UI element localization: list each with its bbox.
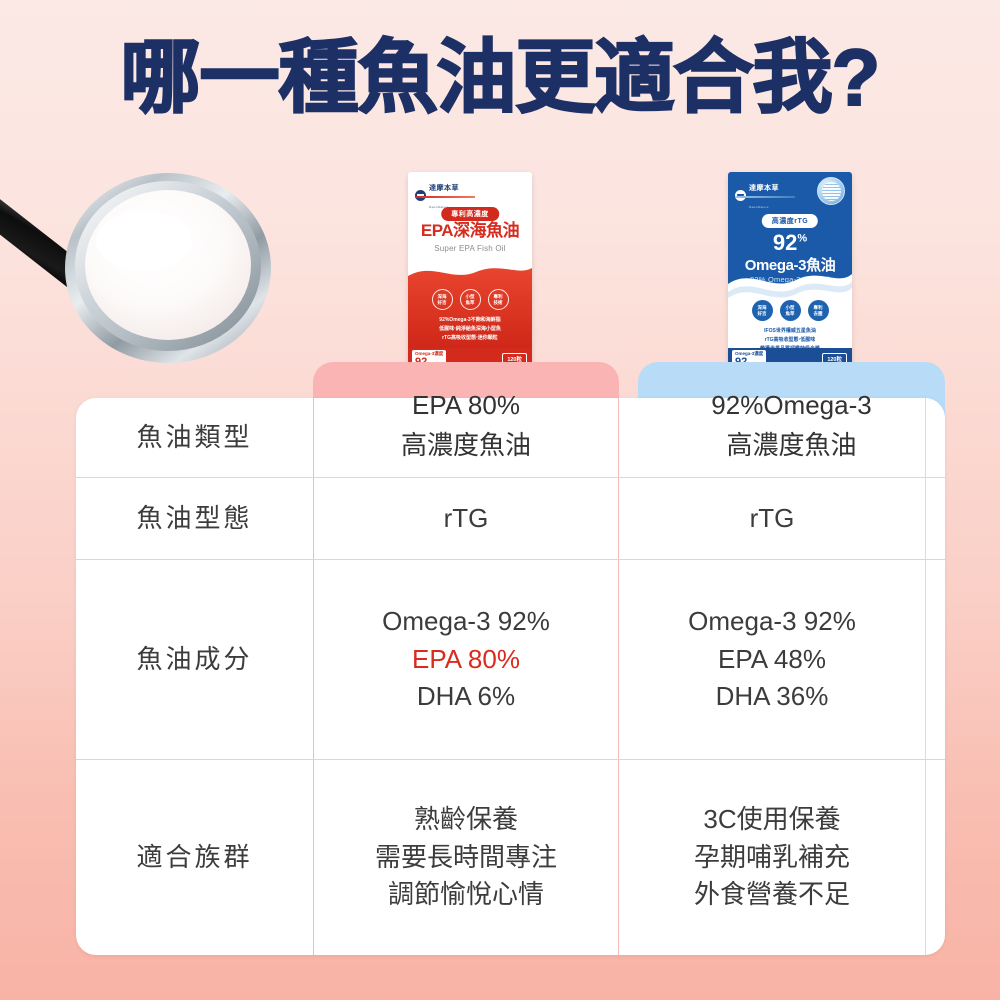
feature-lines-red: 92%Omega-3不飽和海鮮脂 低腥味‧純淨給魚深海小型魚 rTG高吸收型態‧… [408,316,532,342]
brand-mark-icon [735,190,746,201]
feature-circle: 深海好吉 [752,300,773,321]
header-text-omega3: 92%Omega-3 高濃度魚油 [638,385,945,466]
feature-line: rTG高吸收型態‧低腥味 [728,336,852,345]
cell-line: 3C使用保養 [703,801,840,839]
product-box-epa: 達摩本草 DawnNature 專利高濃度 EPA深海魚油 Super EPA … [408,172,532,372]
cell-epa-target-group: 熟齡保養 需要長時間專注 調節愉悅心情 [313,760,619,955]
cell-line: 外食營養不足 [694,876,850,914]
cell-line: rTG [444,500,489,538]
comparison-table: 魚油類型 魚油型態 rTG rTG 魚油成分 Omega-3 92% EPA 8… [76,398,945,955]
feature-circles-blue: 深海好吉 小型魚萃 專利去腥 [728,300,852,321]
product-name-en-red: Super EPA Fish Oil [408,244,532,253]
cell-line: 需要長時間專注 [375,839,557,877]
row-label-target-group: 適合族群 [76,760,313,955]
percent-sign: % [797,233,807,245]
feature-line: IFOS世界權威五星魚油 [728,327,852,336]
product-name-red: EPA深海魚油 [408,222,532,240]
feature-line: 92%Omega-3不飽和海鮮脂 [408,316,532,325]
cell-line-highlighted: EPA 80% [412,641,520,679]
table-row: 適合族群 熟齡保養 需要長時間專注 調節愉悅心情 3C使用保養 孕期哺乳補充 外… [76,760,945,955]
cell-line: 孕期哺乳補充 [694,839,850,877]
feature-circle: 專利技術 [488,289,509,310]
row-label-fish-oil-composition: 魚油成分 [76,560,313,759]
cell-omega3-target-group: 3C使用保養 孕期哺乳補充 外食營養不足 [619,760,926,955]
cell-line: 熟齡保養 [414,801,518,839]
brand-mark-icon [415,190,426,201]
page-title: 哪一種魚油更適合我? [0,38,1000,118]
feature-circle: 專利去腥 [808,300,829,321]
feature-circle: 小型魚萃 [780,300,801,321]
cell-epa-form: rTG [313,478,619,559]
row-label-fish-oil-type: 魚油類型 [76,398,313,477]
feature-circle: 小型魚萃 [460,289,481,310]
cell-epa-composition: Omega-3 92% EPA 80% DHA 6% [313,560,619,759]
cell-line: EPA 48% [718,641,826,679]
ifos-seal-icon [817,177,845,205]
cell-omega3-form: rTG [619,478,926,559]
feature-line: 低腥味‧純淨給魚深海小型魚 [408,325,532,334]
table-row: 魚油成分 Omega-3 92% EPA 80% DHA 6% Omega-3 … [76,560,945,760]
cell-omega3-composition: Omega-3 92% EPA 48% DHA 36% [619,560,926,759]
cell-line: 調節愉悅心情 [388,876,544,914]
product-percent-blue: 92 [773,230,797,255]
feature-circle: 深海好吉 [432,289,453,310]
header-line: 92%Omega-3 [638,385,945,425]
brand-name: 達摩本草 [749,185,779,192]
cell-line: DHA 6% [417,678,515,716]
header-line: 高濃度魚油 [638,425,945,465]
table-row: 魚油型態 rTG rTG [76,478,945,560]
brand-rule [415,196,475,198]
header-line: EPA 80% [313,385,619,425]
feature-line: rTG高吸收型態‧迷你顆粒 [408,334,532,343]
product-badge-blue: 高濃度rTG [762,214,818,228]
header-text-epa: EPA 80% 高濃度魚油 [313,385,619,466]
brand-logo-blue: 達摩本草 DawnNature [735,177,779,213]
cell-line: DHA 36% [716,678,829,716]
row-label-fish-oil-form: 魚油型態 [76,478,313,559]
header-line: 高濃度魚油 [313,425,619,465]
brand-sub: DawnNature [749,205,769,209]
cell-line: rTG [750,500,795,538]
feature-circles-red: 深海好吉 小型魚萃 專利技術 [408,289,532,310]
cell-line: Omega-3 92% [688,603,856,641]
product-badge-red: 專利高濃度 [441,207,499,221]
magnifying-glass-icon [0,135,292,395]
cell-line: Omega-3 92% [382,603,550,641]
brand-name: 達摩本草 [429,185,459,192]
product-box-omega3: 達摩本草 DawnNature 高濃度rTG 92% Omega-3魚油 92%… [728,172,852,372]
brand-rule [735,196,795,198]
